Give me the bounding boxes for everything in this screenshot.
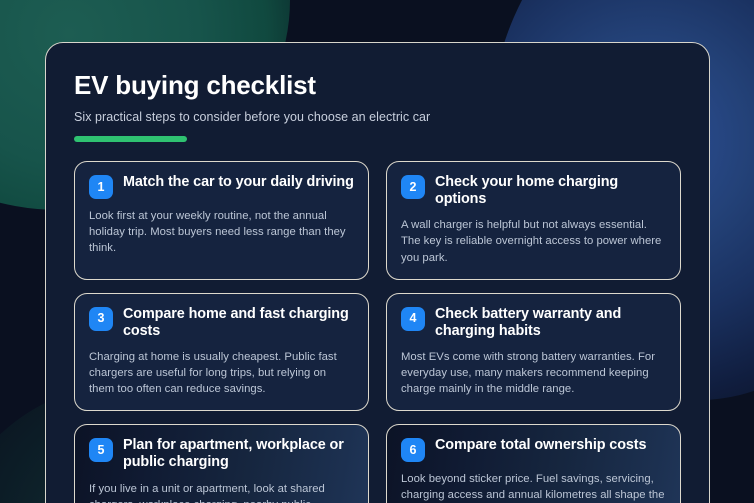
checklist-card-6[interactable]: 6 Compare total ownership costs Look bey… <box>386 424 681 503</box>
card-title: Compare total ownership costs <box>435 437 646 454</box>
card-body: Most EVs come with strong battery warran… <box>401 349 666 397</box>
step-number-badge: 4 <box>401 307 425 331</box>
checklist-card-5[interactable]: 5 Plan for apartment, workplace or publi… <box>74 424 369 503</box>
card-title: Compare home and fast charging costs <box>123 306 354 341</box>
step-number-badge: 2 <box>401 175 425 199</box>
card-body: Look first at your weekly routine, not t… <box>89 208 354 256</box>
card-header: 2 Check your home charging options <box>401 174 666 209</box>
step-number-badge: 3 <box>89 307 113 331</box>
accent-bar <box>74 136 187 142</box>
card-body: Look beyond sticker price. Fuel savings,… <box>401 471 666 503</box>
card-title: Plan for apartment, workplace or public … <box>123 437 354 472</box>
card-body: If you live in a unit or apartment, look… <box>89 481 354 503</box>
checklist-card-1[interactable]: 1 Match the car to your daily driving Lo… <box>74 161 369 280</box>
card-header: 3 Compare home and fast charging costs <box>89 306 354 341</box>
step-number-badge: 6 <box>401 438 425 462</box>
card-header: 1 Match the car to your daily driving <box>89 174 354 199</box>
card-body: Charging at home is usually cheapest. Pu… <box>89 349 354 397</box>
step-number-badge: 1 <box>89 175 113 199</box>
page-title: EV buying checklist <box>74 71 681 101</box>
card-body: A wall charger is helpful but not always… <box>401 217 666 265</box>
checklist-card-2[interactable]: 2 Check your home charging options A wal… <box>386 161 681 280</box>
checklist-card-3[interactable]: 3 Compare home and fast charging costs C… <box>74 293 369 412</box>
card-title: Match the car to your daily driving <box>123 174 354 191</box>
card-header: 6 Compare total ownership costs <box>401 437 666 462</box>
card-title: Check your home charging options <box>435 174 666 209</box>
checklist-panel: EV buying checklist Six practical steps … <box>45 42 710 503</box>
card-title: Check battery warranty and charging habi… <box>435 306 666 341</box>
card-header: 4 Check battery warranty and charging ha… <box>401 306 666 341</box>
checklist-card-4[interactable]: 4 Check battery warranty and charging ha… <box>386 293 681 412</box>
checklist-grid: 1 Match the car to your daily driving Lo… <box>74 161 681 503</box>
card-header: 5 Plan for apartment, workplace or publi… <box>89 437 354 472</box>
step-number-badge: 5 <box>89 438 113 462</box>
page-subtitle: Six practical steps to consider before y… <box>74 110 681 124</box>
